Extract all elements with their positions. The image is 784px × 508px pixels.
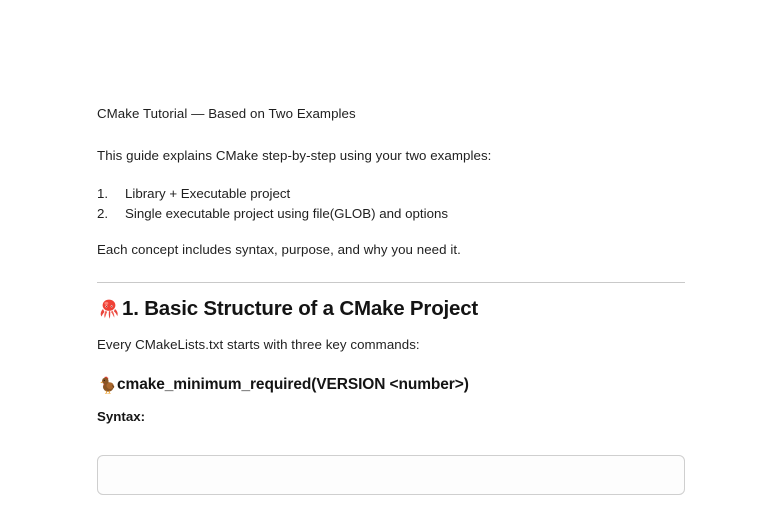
- subsection-heading: cmake_minimum_required(VERSION <number>): [97, 375, 685, 394]
- spacer: [97, 124, 685, 146]
- spacer: [97, 225, 685, 240]
- list-item-label: Library + Executable project: [125, 186, 290, 201]
- syntax-label: Syntax:: [97, 408, 685, 427]
- spacer: [97, 260, 685, 282]
- examples-list: 1.Library + Executable project 2.Single …: [97, 184, 685, 225]
- spacer: [97, 355, 685, 375]
- document-page: CMake Tutorial — Based on Two Examples T…: [0, 0, 784, 441]
- list-item-label: Single executable project using file(GLO…: [125, 206, 448, 221]
- section-heading-text: 1. Basic Structure of a CMake Project: [122, 297, 478, 322]
- spacer: [97, 283, 685, 297]
- spacer: [97, 394, 685, 408]
- code-block[interactable]: [97, 455, 685, 495]
- top-spacer: [97, 0, 685, 104]
- document-title-line: CMake Tutorial — Based on Two Examples: [97, 104, 685, 124]
- list-item: 2.Single executable project using file(G…: [97, 204, 685, 225]
- section-heading: 1. Basic Structure of a CMake Project: [97, 297, 685, 322]
- chicken-emoji: [97, 375, 116, 394]
- subsection-heading-text: cmake_minimum_required(VERSION <number>): [117, 375, 469, 394]
- section-paragraph: Every CMakeLists.txt starts with three k…: [97, 335, 685, 355]
- intro-paragraph: This guide explains CMake step-by-step u…: [97, 146, 685, 166]
- list-item: 1.Library + Executable project: [97, 184, 685, 205]
- list-item-number: 1.: [97, 184, 121, 205]
- document-body: CMake Tutorial — Based on Two Examples T…: [97, 0, 685, 508]
- list-item-number: 2.: [97, 204, 121, 225]
- spacer: [97, 322, 685, 335]
- octopus-emoji: [97, 297, 121, 321]
- closing-paragraph: Each concept includes syntax, purpose, a…: [97, 240, 685, 260]
- spacer: [97, 427, 685, 443]
- spacer: [97, 166, 685, 184]
